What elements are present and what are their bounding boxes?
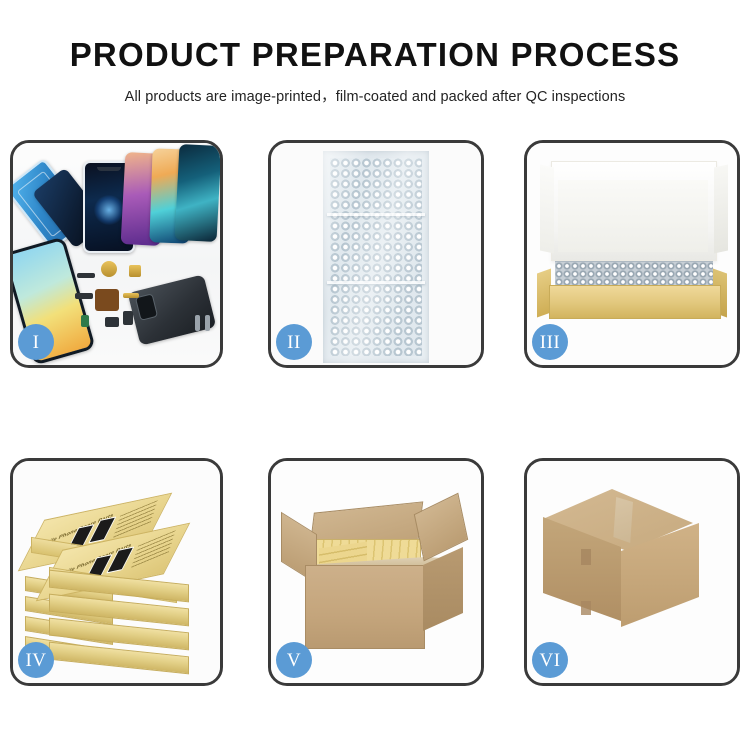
- spare-part-strip: [123, 293, 139, 298]
- step-badge-5: V: [276, 642, 312, 678]
- step-panel-1: I: [10, 140, 223, 368]
- carton-seam-upper: [581, 549, 591, 565]
- step-panel-4: Mobile Phone Spare Parts Mobile Phone Sp…: [10, 458, 223, 686]
- step-badge-6: VI: [532, 642, 568, 678]
- mailer-lid-inner: [558, 180, 708, 252]
- wrap-highlight: [323, 151, 429, 363]
- step-panel-3: III: [524, 140, 740, 368]
- step-panel-5: V: [268, 458, 484, 686]
- step-panel-2: II: [268, 140, 484, 368]
- bubble-wrap-pouch: [323, 151, 429, 363]
- step-badge-4: IV: [18, 642, 54, 678]
- mailer-front-panel: [549, 285, 721, 319]
- spare-part-cable: [75, 293, 93, 299]
- spare-part-speaker: [123, 311, 133, 325]
- product-preparation-infographic: PRODUCT PREPARATION PROCESS All products…: [0, 0, 750, 750]
- spare-part-screw: [195, 315, 200, 331]
- spare-part-connector: [129, 265, 141, 277]
- page-title: PRODUCT PREPARATION PROCESS: [0, 0, 750, 74]
- header: PRODUCT PREPARATION PROCESS All products…: [0, 0, 750, 106]
- carton-seam-lower: [581, 601, 591, 615]
- page-subtitle: All products are image-printed，film-coat…: [0, 74, 750, 106]
- spare-part-camera: [105, 317, 119, 327]
- spare-part-chip-array: [95, 289, 119, 311]
- phone-dark-teal: [175, 144, 222, 242]
- spare-part-coil: [101, 261, 117, 277]
- bubble-wrapped-contents: [555, 261, 713, 288]
- carton-front-panel: [305, 565, 425, 649]
- lid-spec-lines-2: [131, 530, 176, 569]
- spare-part-screw-2: [205, 315, 210, 331]
- spare-part-flex: [77, 273, 95, 278]
- step-panel-6: VI: [524, 458, 740, 686]
- step-badge-1: I: [18, 324, 54, 360]
- mailer-lid: [551, 161, 717, 261]
- spare-part-battery: [81, 315, 89, 327]
- step-badge-2: II: [276, 324, 312, 360]
- step-badge-3: III: [532, 324, 568, 360]
- steps-grid: I II: [10, 140, 740, 685]
